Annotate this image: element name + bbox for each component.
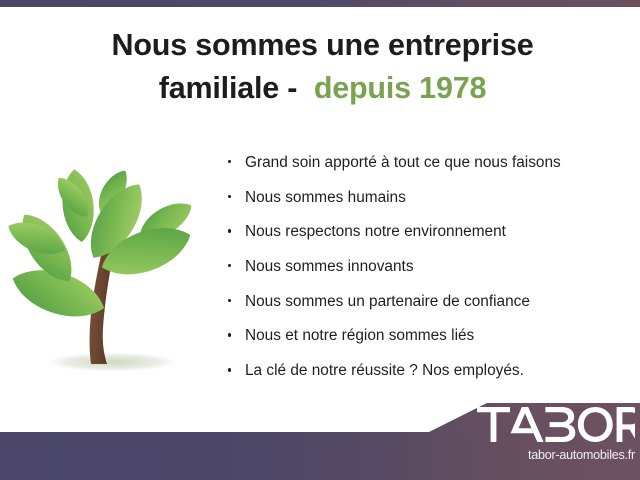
list-item: Nous respectons notre environnement bbox=[228, 220, 628, 255]
list-item: La clé de notre réussite ? Nos employés. bbox=[228, 359, 628, 394]
list-item-label: Nous et notre région sommes liés bbox=[245, 327, 474, 344]
list-item-label: La clé de notre réussite ? Nos employés. bbox=[245, 362, 524, 379]
bullet-dot-icon bbox=[228, 229, 231, 232]
page-title-line-1: Nous sommes une entreprise bbox=[50, 24, 595, 67]
list-item-label: Nous sommes un partenaire de confiance bbox=[245, 293, 530, 310]
list-item: Nous sommes humains bbox=[228, 186, 628, 221]
list-item: Nous et notre région sommes liés bbox=[228, 324, 628, 359]
list-item-label: Nous sommes humains bbox=[245, 189, 406, 206]
page-title-line-2: familiale - depuis 1978 bbox=[50, 67, 595, 110]
list-item-label: Nous sommes innovants bbox=[245, 258, 414, 275]
page-title-line-2-black: familiale - bbox=[159, 71, 314, 105]
bullet-dot-icon bbox=[228, 195, 231, 198]
logo-wordmark bbox=[477, 407, 635, 443]
list-item: Grand soin apporté à tout ce que nous fa… bbox=[228, 151, 628, 186]
list-item-label: Grand soin apporté à tout ce que nous fa… bbox=[245, 154, 561, 171]
value-proposition-list: Grand soin apporté à tout ce que nous fa… bbox=[228, 151, 628, 394]
slide-canvas: Nous sommes une entreprise familiale - d… bbox=[0, 0, 640, 480]
list-item-label: Nous respectons notre environnement bbox=[245, 223, 506, 240]
bullet-dot-icon bbox=[228, 333, 231, 336]
bullet-dot-icon bbox=[228, 368, 231, 371]
bullet-dot-icon bbox=[228, 299, 231, 302]
tree-illustration bbox=[8, 148, 223, 388]
top-accent-bar bbox=[0, 0, 640, 7]
list-item: Nous sommes innovants bbox=[228, 255, 628, 290]
bullet-dot-icon bbox=[228, 160, 231, 163]
tree-shadow bbox=[46, 353, 178, 372]
page-title-highlight-year: depuis 1978 bbox=[314, 71, 486, 105]
bullet-dot-icon bbox=[228, 264, 231, 267]
logo-tagline: tabor-automobiles.fr bbox=[479, 448, 635, 462]
brand-logo: tabor-automobiles.fr bbox=[477, 407, 635, 475]
page-title: Nous sommes une entreprise familiale - d… bbox=[50, 24, 595, 111]
list-item: Nous sommes un partenaire de confiance bbox=[228, 290, 628, 325]
